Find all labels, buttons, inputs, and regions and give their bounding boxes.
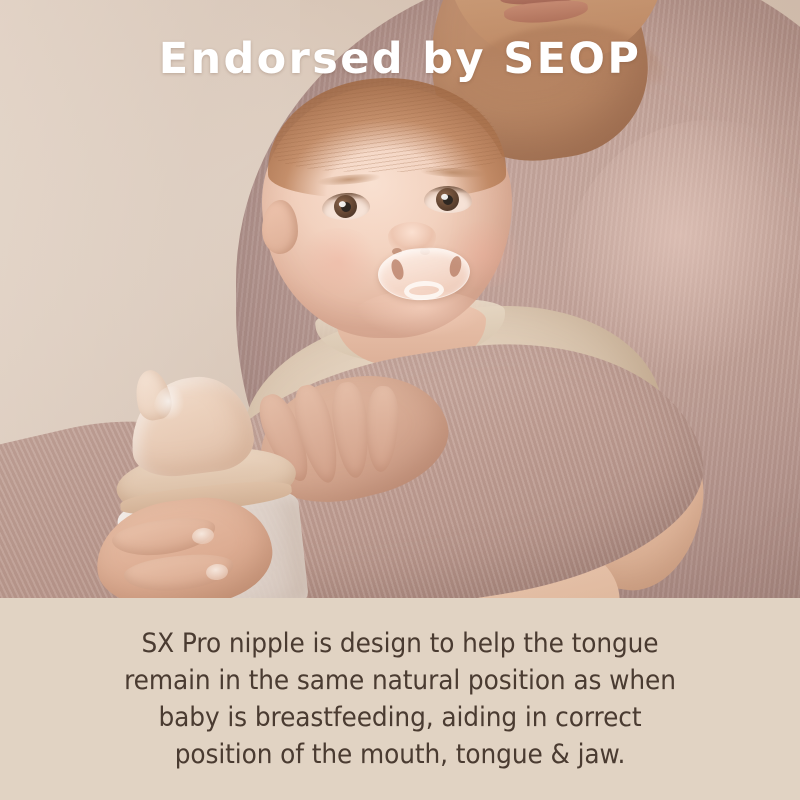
eye-glint	[441, 193, 448, 199]
caption-line: remain in the same natural position as w…	[78, 662, 722, 699]
infographic-root: 180 150 120 90 60	[0, 0, 800, 800]
caption-line: position of the mouth, tongue & jaw.	[78, 736, 722, 773]
headline-endorsement: Endorsed by SEOP	[0, 33, 800, 85]
caption-line: baby is breastfeeding, aiding in correct	[78, 699, 722, 736]
caption-text: SX Pro nipple is design to help the tong…	[78, 625, 722, 773]
eye-glint	[339, 201, 346, 207]
baby-eye-right	[424, 185, 473, 214]
product-lifestyle-photo: 180 150 120 90 60	[0, 0, 800, 598]
caption-line: SX Pro nipple is design to help the tong…	[78, 625, 722, 662]
baby-cheek-left	[296, 228, 382, 294]
caption-panel: SX Pro nipple is design to help the tong…	[0, 598, 800, 800]
baby-ear	[262, 200, 298, 254]
